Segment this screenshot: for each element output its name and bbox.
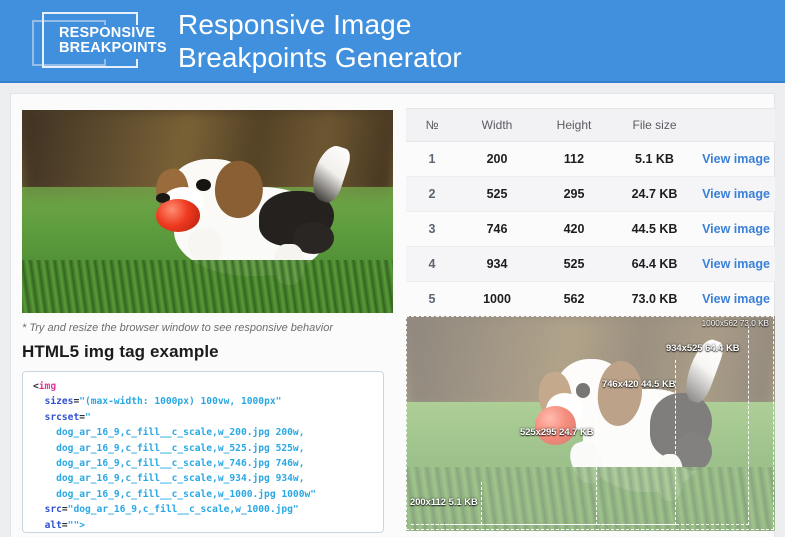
- photo-foreground-grass: [22, 260, 393, 313]
- row-width: 934: [458, 247, 536, 282]
- row-width: 525: [458, 177, 536, 212]
- table-row: 252529524.7 KBView image: [406, 177, 775, 212]
- row-action-cell: View image: [697, 282, 775, 317]
- responsive-preview-image: [22, 110, 393, 313]
- table-header-row: № Width Height File size: [406, 109, 775, 142]
- th-file-size: File size: [612, 109, 697, 142]
- page-title: Responsive Image Breakpoints Generator: [178, 8, 462, 74]
- code-snippet-box[interactable]: <img sizes="(max-width: 1000px) 100vw, 1…: [22, 371, 384, 533]
- row-file-size: 5.1 KB: [612, 142, 697, 177]
- view-image-link[interactable]: View image: [702, 152, 770, 166]
- table-row: 12001125.1 KBView image: [406, 142, 775, 177]
- row-width: 1000: [458, 282, 536, 317]
- row-file-size: 24.7 KB: [612, 177, 697, 212]
- breakpoints-preview[interactable]: 1000x562 73.0 KB 934x525 64.4 KB 746x420…: [406, 316, 775, 531]
- row-action-cell: View image: [697, 212, 775, 247]
- row-height: 112: [536, 142, 612, 177]
- row-height: 420: [536, 212, 612, 247]
- breakpoint-label-200: 200x112 5.1 KB: [410, 496, 478, 507]
- page-title-line-2: Breakpoints Generator: [178, 41, 462, 74]
- th-height: Height: [536, 109, 612, 142]
- th-width: Width: [458, 109, 536, 142]
- table-row: 5100056273.0 KBView image: [406, 282, 775, 317]
- red-ball: [156, 199, 201, 231]
- row-file-size: 73.0 KB: [612, 282, 697, 317]
- row-width: 746: [458, 212, 536, 247]
- th-number: №: [406, 109, 458, 142]
- row-height: 562: [536, 282, 612, 317]
- view-image-link[interactable]: View image: [702, 257, 770, 271]
- responsive-note: * Try and resize the browser window to s…: [22, 322, 333, 334]
- logo: RESPONSIVE BREAKPOINTS: [32, 12, 150, 70]
- row-file-size: 44.5 KB: [612, 212, 697, 247]
- logo-text: RESPONSIVE BREAKPOINTS: [56, 25, 170, 59]
- row-action-cell: View image: [697, 177, 775, 212]
- table-body: 12001125.1 KBView image252529524.7 KBVie…: [406, 142, 775, 317]
- breakpoint-label-934: 934x525 64.4 KB: [666, 342, 740, 353]
- row-number: 2: [406, 177, 458, 212]
- row-number: 1: [406, 142, 458, 177]
- page-root: RESPONSIVE BREAKPOINTS Responsive Image …: [0, 0, 785, 537]
- table-row: 374642044.5 KBView image: [406, 212, 775, 247]
- breakpoint-label-1000: 1000x562 73.0 KB: [702, 319, 769, 328]
- logo-line-2: BREAKPOINTS: [59, 41, 167, 57]
- breakpoint-label-746: 746x420 44.5 KB: [602, 378, 676, 389]
- th-action: [697, 109, 775, 142]
- row-number: 3: [406, 212, 458, 247]
- view-image-link[interactable]: View image: [702, 292, 770, 306]
- row-height: 525: [536, 247, 612, 282]
- breakpoint-label-525: 525x295 24.7 KB: [520, 426, 594, 437]
- row-number: 4: [406, 247, 458, 282]
- table-row: 493452564.4 KBView image: [406, 247, 775, 282]
- view-image-link[interactable]: View image: [702, 187, 770, 201]
- logo-line-1: RESPONSIVE: [59, 26, 167, 42]
- html5-example-heading: HTML5 img tag example: [22, 342, 219, 362]
- row-width: 200: [458, 142, 536, 177]
- row-number: 5: [406, 282, 458, 317]
- row-file-size: 64.4 KB: [612, 247, 697, 282]
- row-height: 295: [536, 177, 612, 212]
- page-title-line-1: Responsive Image: [178, 8, 462, 41]
- dog-photo: [22, 110, 393, 313]
- app-header: RESPONSIVE BREAKPOINTS Responsive Image …: [0, 0, 785, 83]
- view-image-link[interactable]: View image: [702, 222, 770, 236]
- row-action-cell: View image: [697, 247, 775, 282]
- row-action-cell: View image: [697, 142, 775, 177]
- breakpoints-table: № Width Height File size 12001125.1 KBVi…: [406, 108, 775, 317]
- table-head: № Width Height File size: [406, 109, 775, 142]
- code-snippet: <img sizes="(max-width: 1000px) 100vw, 1…: [33, 379, 383, 533]
